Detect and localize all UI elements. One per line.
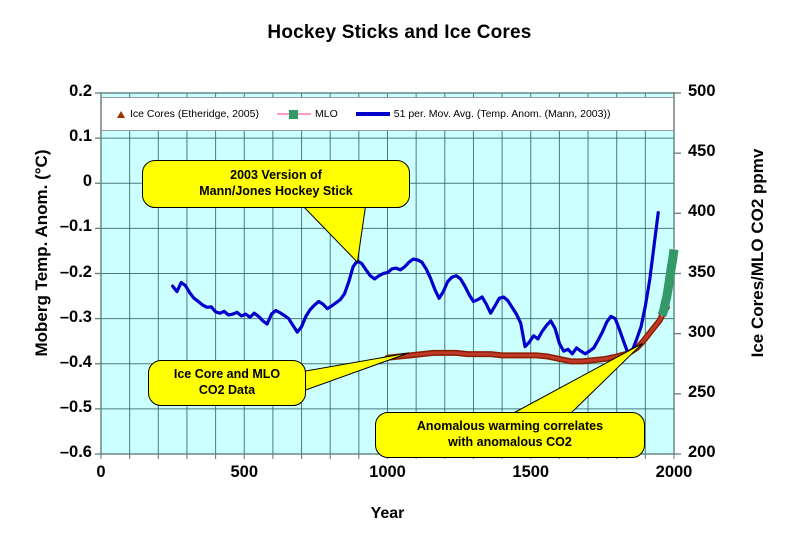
callout-ice-core-data-line-1: Ice Core and MLO	[174, 367, 280, 383]
y-axis-right-title: Ice Cores/MLO CO2 ppmv	[748, 63, 768, 443]
legend-label-ice-cores: Ice Cores (Etheridge, 2005)	[130, 108, 259, 120]
chart-legend: Ice Cores (Etheridge, 2005) MLO 51 per. …	[101, 97, 674, 131]
chart-figure: Hockey Sticks and Ice Cores 0.20.10–0.1–…	[0, 0, 799, 547]
legend-item-mlo: MLO	[277, 108, 338, 120]
x-axis-tick-label: 1000	[348, 463, 428, 482]
x-axis-tick-label: 500	[204, 463, 284, 482]
callout-hockey-stick-line-2: Mann/Jones Hockey Stick	[199, 184, 353, 200]
x-axis-tick-label: 1500	[491, 463, 571, 482]
x-axis-tick-label: 2000	[634, 463, 714, 482]
callout-ice-core-data-line-2: CO2 Data	[199, 383, 255, 399]
legend-item-ice-cores: Ice Cores (Etheridge, 2005)	[116, 108, 259, 120]
callout-hockey-stick-line-1: 2003 Version of	[230, 168, 322, 184]
x-axis-tick-label: 0	[61, 463, 141, 482]
callout-ice-core-data: Ice Core and MLO CO2 Data	[148, 360, 306, 406]
legend-label-mlo: MLO	[315, 108, 338, 120]
callout-hockey-stick: 2003 Version of Mann/Jones Hockey Stick	[142, 160, 410, 208]
callout-anomalous-warming-line-1: Anomalous warming correlates	[417, 419, 603, 435]
callout-anomalous-warming-line-2: with anomalous CO2	[448, 435, 572, 451]
x-axis-ticks: 0500100015002000	[0, 0, 799, 547]
callout-anomalous-warming: Anomalous warming correlates with anomal…	[375, 412, 645, 458]
legend-label-moving-average: 51 per. Mov. Avg. (Temp. Anom. (Mann, 20…	[394, 108, 611, 120]
y-axis-left-title: Moberg Temp. Anom. (°C)	[32, 63, 52, 443]
line-square-marker-icon	[277, 109, 311, 119]
legend-item-moving-average: 51 per. Mov. Avg. (Temp. Anom. (Mann, 20…	[356, 108, 611, 120]
blue-line-marker-icon	[356, 109, 390, 119]
triangle-marker-icon	[116, 109, 126, 119]
x-axis-title: Year	[101, 505, 674, 523]
